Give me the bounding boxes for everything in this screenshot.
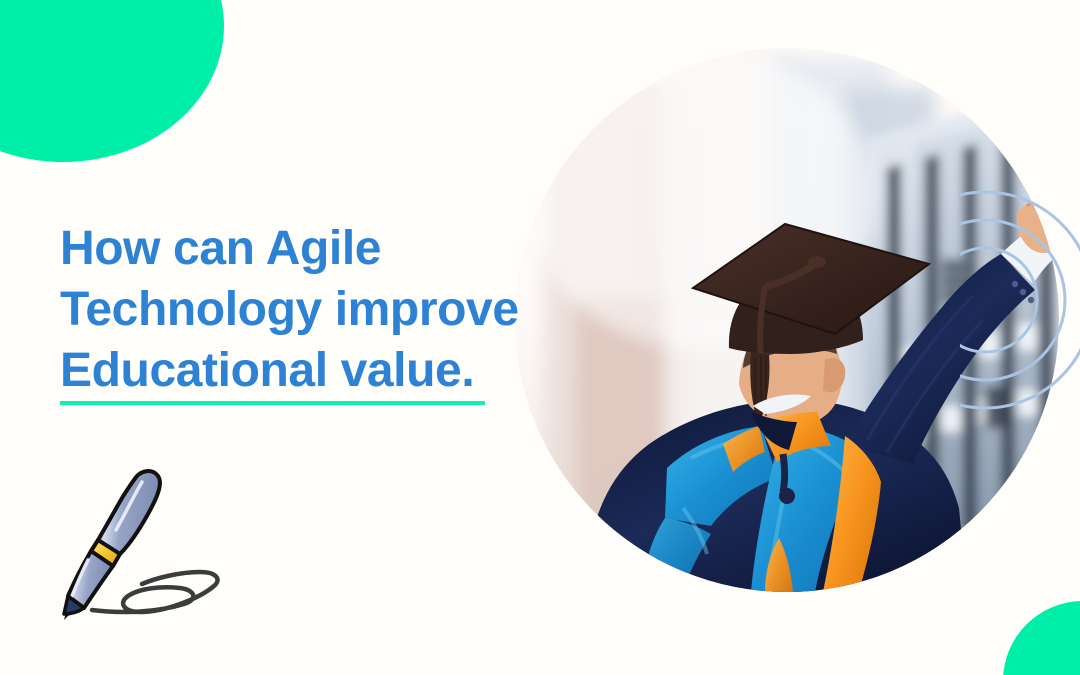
title-line-2: Technology improve	[60, 279, 620, 340]
title-line-3: Educational value.	[60, 340, 620, 401]
signature-scribble	[92, 572, 218, 612]
pen-illustration	[62, 462, 247, 642]
slide-canvas: How can Agile Technology improve Educati…	[0, 0, 1080, 675]
title-line-1: How can Agile	[60, 218, 620, 279]
pen-cap	[98, 471, 160, 554]
page-title: How can Agile Technology improve Educati…	[60, 218, 620, 401]
decor-green-blob-top-left	[0, 0, 224, 162]
decor-green-blob-bottom-right	[1003, 601, 1080, 675]
title-underline-divider	[60, 401, 485, 405]
